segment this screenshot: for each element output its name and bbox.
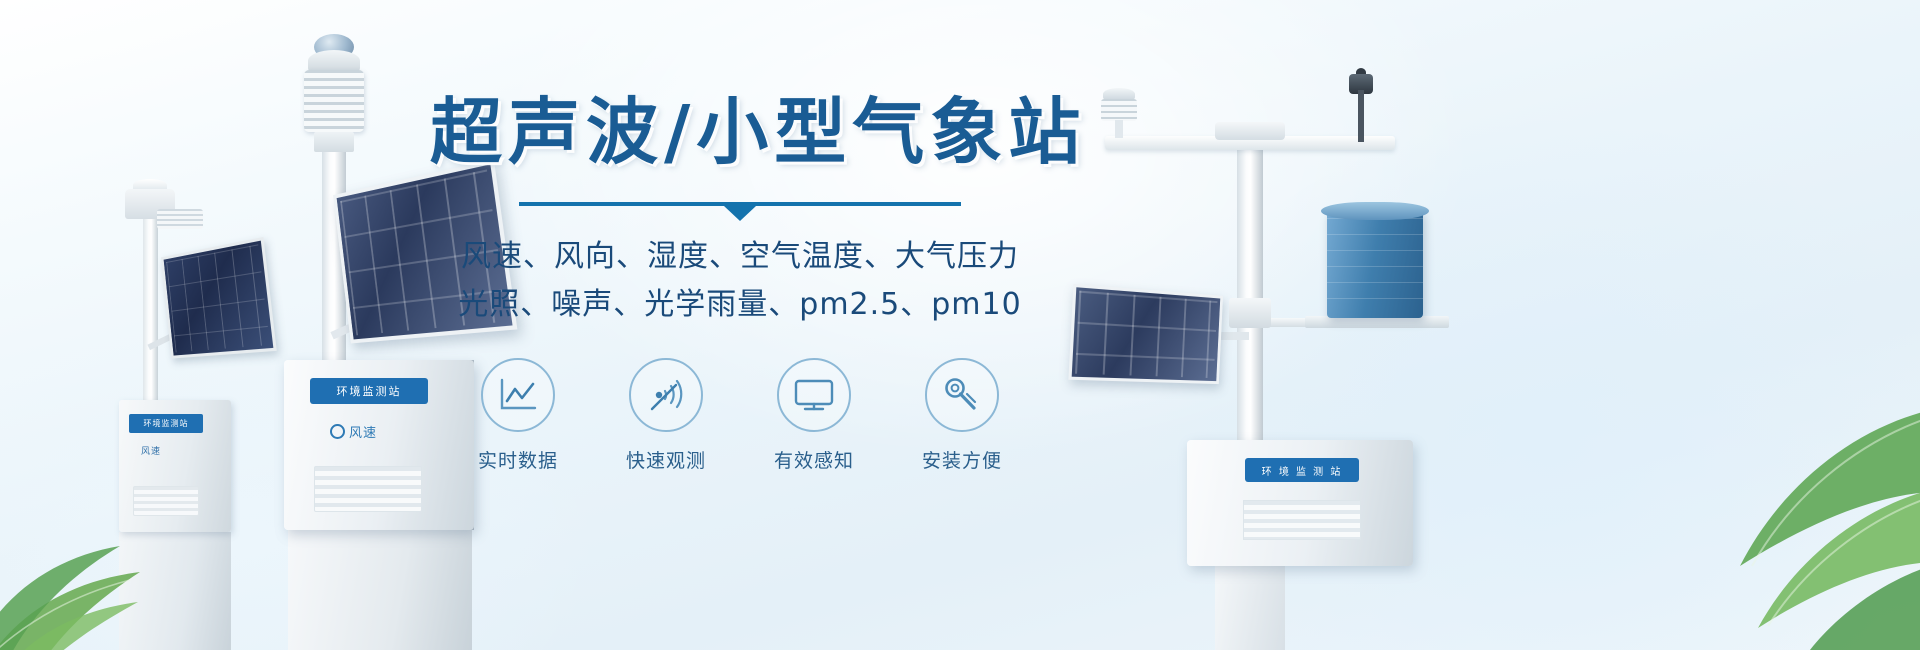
solar-panel	[1068, 284, 1223, 384]
feature-item-easy-installation[interactable]: 安装方便	[907, 358, 1017, 473]
product-banner: 环境监测站 风速 环境监测站 风速	[0, 0, 1920, 650]
cabinet-nameplate-text: 环境监测站	[144, 418, 189, 429]
banner-subtitle-line-2: 光照、噪声、光学雨量、pm2.5、pm10	[430, 285, 1050, 326]
signal-wave-icon	[646, 376, 686, 414]
feature-icon-circle	[777, 358, 851, 432]
feature-item-fast-observation[interactable]: 快速观测	[611, 358, 721, 473]
cabinet-nameplate-text: 环境监测站	[337, 383, 402, 399]
monitor-icon	[793, 378, 835, 412]
wrench-icon	[942, 376, 982, 414]
ultrasonic-wind-sensor	[1099, 88, 1139, 138]
cabinet-vent-louvers	[314, 466, 422, 512]
control-cabinet: 环 境 监 测 站	[1187, 440, 1413, 566]
mast-collar	[1229, 298, 1271, 328]
sensor-top-cap	[308, 50, 360, 72]
cabinet-nameplate-text: 环 境 监 测 站	[1262, 463, 1343, 478]
feature-icon-circle	[629, 358, 703, 432]
feature-icon-circle	[481, 358, 555, 432]
rain-gauge-rim	[1321, 202, 1429, 220]
wind-vane-stem	[1358, 90, 1364, 142]
radiation-shield	[304, 70, 364, 132]
cabinet-nameplate: 环境监测站	[129, 414, 203, 433]
banner-text-block: 超声波/小型气象站 风速、风向、湿度、空气温度、大气压力 光照、噪声、光学雨量、…	[430, 95, 1050, 473]
cabinet-vent-louvers	[1243, 500, 1361, 540]
radiation-shield-base	[314, 132, 354, 152]
sensor-head	[125, 189, 175, 219]
feature-list: 实时数据 快速观测	[430, 358, 1050, 473]
feature-item-realtime-data[interactable]: 实时数据	[463, 358, 573, 473]
ultrasonic-sensor-stem	[1115, 120, 1123, 138]
title-divider	[519, 197, 961, 217]
feature-label: 有效感知	[759, 446, 869, 473]
cabinet-brand-text: 风速	[141, 444, 161, 457]
cabinet-nameplate: 环 境 监 测 站	[1245, 458, 1359, 482]
rain-gauge-bands	[1327, 218, 1423, 314]
cabinet-brand: 风速	[330, 422, 377, 441]
weather-station-right: 环 境 监 测 站	[1065, 40, 1485, 650]
divider-arrow-icon	[724, 206, 756, 221]
feature-icon-circle	[925, 358, 999, 432]
cabinet-lower-body	[1215, 566, 1285, 650]
solar-panel	[161, 237, 277, 359]
radiation-shield-plates	[157, 209, 203, 229]
banner-title: 超声波/小型气象站	[430, 95, 1050, 171]
line-chart-icon	[498, 378, 538, 412]
cabinet-nameplate: 环境监测站	[310, 378, 428, 404]
feature-label: 安装方便	[907, 446, 1017, 473]
feature-label: 实时数据	[463, 446, 573, 473]
cross-arm-collar	[1215, 122, 1285, 140]
leaf-decoration-left-icon	[0, 460, 230, 650]
leaf-decoration-right-icon	[1600, 370, 1920, 650]
ultrasonic-sensor-body	[1101, 99, 1137, 121]
brand-logo-icon	[330, 424, 345, 439]
cabinet-brand-text: 风速	[349, 422, 377, 441]
feature-label: 快速观测	[611, 446, 721, 473]
wind-vane-sensor	[1337, 68, 1385, 140]
cabinet-lower-body	[288, 530, 472, 650]
feature-item-effective-sensing[interactable]: 有效感知	[759, 358, 869, 473]
banner-subtitle-line-1: 风速、风向、湿度、空气温度、大气压力	[430, 237, 1050, 278]
